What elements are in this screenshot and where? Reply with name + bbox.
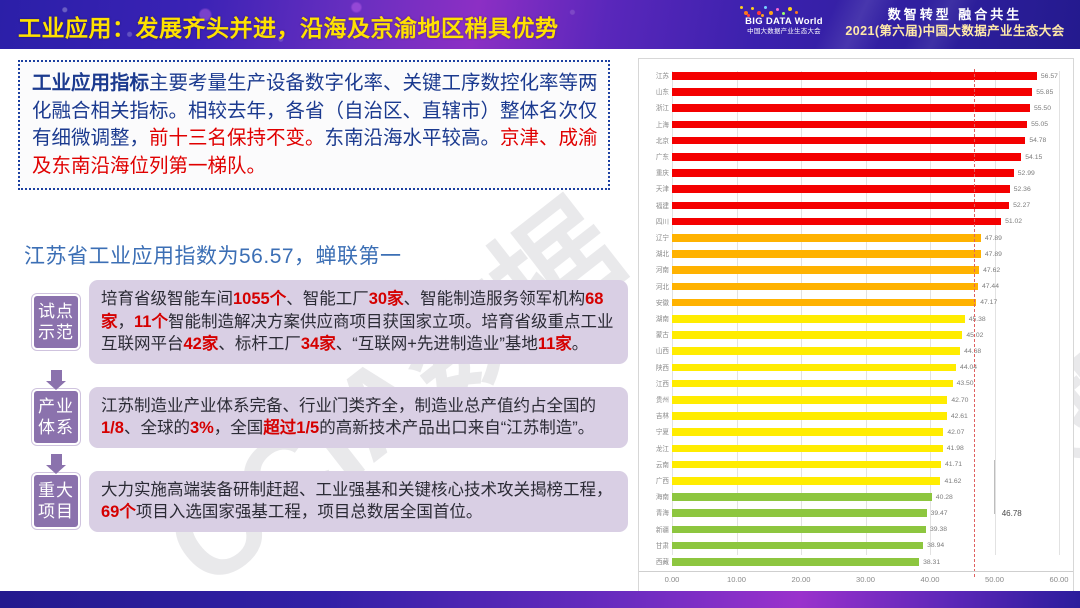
chart-category-label: 宁夏 [643, 428, 669, 437]
left-content-column: 工业应用指标主要考量生产设备数字化率、关键工序数控化率等两化融合相关指标。相较去… [14, 58, 628, 594]
chart-value-label: 44.68 [964, 347, 981, 356]
chart-bar[interactable] [672, 234, 981, 242]
big-data-world-logo: BIG DATA World 中国大数据产业生态大会 [736, 4, 832, 46]
highlight-number: 34家 [301, 335, 336, 353]
chart-category-label: 辽宁 [643, 234, 669, 243]
chart-bar[interactable] [672, 331, 962, 339]
chart-value-label: 52.99 [1018, 169, 1035, 178]
flow-badge-line1: 试点 [34, 301, 78, 322]
section-subtitle: 江苏省工业应用指数为56.57，蝉联第一 [24, 240, 614, 270]
chart-category-label: 贵州 [643, 396, 669, 405]
chart-category-label: 江西 [643, 380, 669, 389]
highlight-number: 3% [190, 419, 214, 437]
chart-gridline [1059, 71, 1060, 555]
callout-bold-lead: 工业应用指标 [32, 72, 149, 94]
chart-value-label: 42.07 [947, 428, 964, 437]
chart-bar[interactable] [672, 218, 1001, 226]
chart-bar[interactable] [672, 493, 932, 501]
chart-bar[interactable] [672, 283, 978, 291]
chart-category-label: 浙江 [643, 104, 669, 113]
chart-bar[interactable] [672, 137, 1025, 145]
chart-category-label: 蒙古 [643, 331, 669, 340]
chart-value-label: 38.31 [923, 558, 940, 567]
chart-bar[interactable] [672, 558, 919, 566]
chart-bar[interactable] [672, 315, 965, 323]
chart-value-label: 43.50 [957, 379, 974, 388]
flow-badge-line2: 体系 [34, 417, 78, 438]
chart-category-label: 广东 [643, 153, 669, 162]
chart-value-label: 41.71 [945, 460, 962, 469]
chart-bar[interactable] [672, 526, 926, 534]
chart-category-label: 吉林 [643, 412, 669, 421]
chart-value-label: 55.05 [1031, 120, 1048, 129]
chart-bar[interactable] [672, 396, 947, 404]
chart-value-label: 41.98 [947, 444, 964, 453]
page-title: 工业应用：发展齐头并进，沿海及京渝地区稍具优势 [18, 9, 559, 43]
chart-bar[interactable] [672, 428, 943, 436]
chart-bar[interactable] [672, 202, 1009, 210]
flow-item: 产业体系江苏制造业产业体系完备、行业门类齐全，制造业总产值约占全国的1/8、全球… [32, 387, 628, 448]
flow-badge[interactable]: 重大项目 [32, 473, 80, 529]
flow-item: 试点示范培育省级智能车间1055个、智能工厂30家、智能制造服务领军机构68家，… [32, 280, 628, 364]
chart-bar[interactable] [672, 169, 1014, 177]
conference-name: 2021(第六届)中国大数据产业生态大会 [844, 23, 1066, 39]
chart-category-label: 四川 [643, 218, 669, 227]
flow-bubble-text: 培育省级智能车间1055个、智能工厂30家、智能制造服务领军机构68家，11个智… [89, 280, 628, 364]
chart-bar[interactable] [672, 88, 1032, 96]
chart-value-label: 47.17 [980, 298, 997, 307]
body-text: 、智能制造服务领军机构 [404, 290, 586, 308]
key-insight-callout: 工业应用指标主要考量生产设备数字化率、关键工序数控化率等两化融合相关指标。相较去… [18, 60, 610, 190]
chart-category-label: 广西 [643, 477, 669, 486]
highlight-number: 11个 [134, 313, 168, 331]
chart-value-label: 55.85 [1036, 88, 1053, 97]
flow-badge-line2: 项目 [34, 501, 78, 522]
callout-highlight-1: 前十三名保持不变。 [149, 127, 325, 149]
chart-value-label: 41.62 [944, 477, 961, 486]
x-axis-tick-label: 0.00 [665, 575, 680, 584]
highlight-number: 1055个 [233, 290, 286, 308]
chart-category-label: 龙江 [643, 445, 669, 454]
body-text: 、标杆工厂 [218, 335, 301, 353]
flow-badge[interactable]: 试点示范 [32, 294, 80, 350]
chart-bar[interactable] [672, 412, 947, 420]
chart-value-label: 42.70 [951, 396, 968, 405]
chart-bar[interactable] [672, 185, 1010, 193]
chart-category-label: 青海 [643, 509, 669, 518]
chart-bar[interactable] [672, 461, 941, 469]
chart-average-line [974, 69, 975, 577]
chart-category-label: 江苏 [643, 72, 669, 81]
chart-bar[interactable] [672, 542, 923, 550]
x-axis-tick-label: 10.00 [727, 575, 746, 584]
chart-category-label: 安徽 [643, 299, 669, 308]
x-axis-tick-label: 60.00 [1049, 575, 1068, 584]
slide-header: 工业应用：发展齐头并进，沿海及京渝地区稍具优势 BIG DATA World 中… [0, 0, 1080, 49]
chart-category-label: 河北 [643, 283, 669, 292]
chart-value-label: 38.94 [927, 541, 944, 550]
chart-category-label: 山东 [643, 88, 669, 97]
x-axis-tick-label: 50.00 [985, 575, 1004, 584]
chart-bar[interactable] [672, 72, 1037, 80]
flow-bubble-text: 江苏制造业产业体系完备、行业门类齐全，制造业总产值约占全国的1/8、全球的3%，… [89, 387, 628, 448]
chart-category-label: 海南 [643, 493, 669, 502]
logo-dots-icon [738, 4, 830, 17]
chart-value-label: 42.61 [951, 412, 968, 421]
chart-bar[interactable] [672, 250, 981, 258]
callout-body-2: 东南沿海水平较高。 [325, 127, 501, 149]
chart-category-label: 重庆 [643, 169, 669, 178]
chart-category-label: 天津 [643, 185, 669, 194]
chart-bar[interactable] [672, 445, 943, 453]
flow-badge-line1: 重大 [34, 480, 78, 501]
body-text: 、智能工厂 [286, 290, 369, 308]
chart-value-label: 54.15 [1025, 153, 1042, 162]
highlight-number: 69个 [101, 503, 136, 521]
chart-value-label: 56.57 [1041, 72, 1058, 81]
chart-value-label: 47.89 [985, 250, 1002, 259]
x-axis-tick-label: 30.00 [856, 575, 875, 584]
slide-root: 工业应用：发展齐头并进，沿海及京渝地区稍具优势 BIG DATA World 中… [0, 0, 1080, 608]
body-text: 的高新技术产品出口来自“江苏制造”。 [319, 419, 594, 437]
chart-value-label: 52.36 [1014, 185, 1031, 194]
chart-bar[interactable] [672, 347, 960, 355]
chart-bar[interactable] [672, 364, 956, 372]
highlight-number: 11家 [538, 335, 572, 353]
chart-category-label: 甘肃 [643, 542, 669, 551]
chart-value-label: 40.28 [936, 493, 953, 502]
chart-bar[interactable] [672, 477, 940, 485]
flow-list: 试点示范培育省级智能车间1055个、智能工厂30家、智能制造服务领军机构68家，… [32, 280, 628, 532]
chart-value-label: 47.89 [985, 234, 1002, 243]
chart-plot-area: 江苏56.57山东55.85浙江55.50上海55.05北京54.78广东54.… [639, 59, 1073, 571]
body-text: 。 [572, 335, 589, 353]
chart-value-label: 51.02 [1005, 217, 1022, 226]
chart-bar[interactable] [672, 153, 1021, 161]
chart-category-label: 湖北 [643, 250, 669, 259]
body-text: 、全球的 [124, 419, 190, 437]
x-axis-tick-label: 40.00 [920, 575, 939, 584]
highlight-number: 超过1/5 [263, 419, 319, 437]
chart-bar[interactable] [672, 299, 976, 307]
flow-badge-line1: 产业 [34, 396, 78, 417]
chart-value-label: 54.78 [1029, 136, 1046, 145]
chart-category-label: 湖南 [643, 315, 669, 324]
chart-value-label: 39.47 [931, 509, 948, 518]
body-text: 大力实施高端装备研制赶超、工业强基和关键核心技术攻关揭榜工程， [101, 481, 613, 499]
x-axis-tick-label: 20.00 [791, 575, 810, 584]
chart-value-label: 45.02 [966, 331, 983, 340]
flow-badge-line2: 示范 [34, 322, 78, 343]
chart-category-label: 上海 [643, 121, 669, 130]
chart-value-label: 52.27 [1013, 201, 1030, 210]
highlight-number: 1/8 [101, 419, 124, 437]
chart-bar[interactable] [672, 509, 927, 517]
highlight-number: 42家 [184, 335, 219, 353]
body-text: 江苏制造业产业体系完备、行业门类齐全，制造业总产值约占全国的 [101, 397, 596, 415]
highlight-number: 30家 [369, 290, 404, 308]
chart-category-label: 福建 [643, 202, 669, 211]
body-text: 、“互联网+先进制造业”基地 [336, 335, 538, 353]
body-text: ，全国 [214, 419, 264, 437]
chart-value-label: 45.38 [969, 315, 986, 324]
chart-bar[interactable] [672, 266, 979, 274]
body-text: ， [118, 313, 135, 331]
conference-slogan: 数智转型 融合共生 [844, 6, 1066, 23]
province-index-bar-chart: 江苏56.57山东55.85浙江55.50上海55.05北京54.78广东54.… [638, 58, 1074, 594]
chart-category-label: 云南 [643, 461, 669, 470]
body-text: 培育省级智能车间 [101, 290, 233, 308]
chart-value-label: 47.44 [982, 282, 999, 291]
chart-value-label: 55.50 [1034, 104, 1051, 113]
conference-banner: 数智转型 融合共生 2021(第六届)中国大数据产业生态大会 [844, 6, 1066, 39]
chart-category-label: 北京 [643, 137, 669, 146]
logo-wordmark: BIG DATA World [736, 17, 832, 27]
chart-value-label: 47.62 [983, 266, 1000, 275]
slide-footer [0, 591, 1080, 608]
chart-category-label: 河南 [643, 266, 669, 275]
chart-category-label: 新疆 [643, 526, 669, 535]
down-arrow-icon [32, 367, 80, 384]
down-arrow-icon [32, 451, 80, 468]
body-text: 项目入选国家强基工程，项目总数居全国首位。 [136, 503, 483, 521]
chart-category-label: 山西 [643, 347, 669, 356]
chart-bar[interactable] [672, 104, 1030, 112]
flow-item: 重大项目大力实施高端装备研制赶超、工业强基和关键核心技术攻关揭榜工程，69个项目… [32, 471, 628, 532]
callout-paragraph: 工业应用指标主要考量生产设备数字化率、关键工序数控化率等两化融合相关指标。相较去… [32, 70, 598, 180]
chart-average-label: 46.78 [1000, 508, 1024, 519]
flow-badge[interactable]: 产业体系 [32, 389, 80, 445]
chart-value-label: 39.38 [930, 525, 947, 534]
chart-category-label: 西藏 [643, 558, 669, 567]
chart-bar[interactable] [672, 380, 953, 388]
flow-bubble-text: 大力实施高端装备研制赶超、工业强基和关键核心技术攻关揭榜工程，69个项目入选国家… [89, 471, 628, 532]
chart-average-connector [994, 460, 995, 514]
logo-subtext: 中国大数据产业生态大会 [736, 27, 832, 36]
chart-category-label: 陕西 [643, 364, 669, 373]
